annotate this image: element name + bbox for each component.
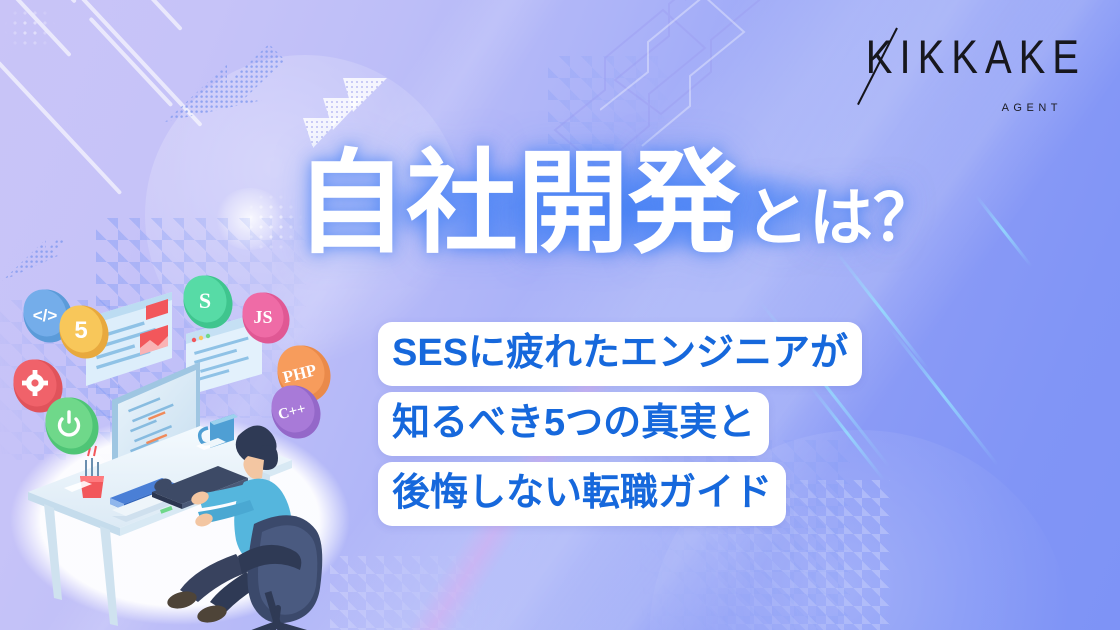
- halftone-block-g: [0, 8, 60, 48]
- headline-tail: とは？: [745, 186, 937, 260]
- promotional-banner: KIKKAKE AGENT 自社開発 とは？ SESに疲れたエンジニアが 知るべ…: [0, 0, 1120, 630]
- headline-main: 自社開発: [295, 148, 739, 260]
- developer-at-desk-icon: </> 5 S JS PHP: [0, 270, 360, 630]
- brand-logo-subtext: AGENT: [1002, 102, 1062, 114]
- subtitle-pill-3: 後悔しない転職ガイド: [378, 462, 786, 526]
- headline: 自社開発 とは？: [295, 148, 937, 260]
- svg-text:JS: JS: [253, 307, 272, 327]
- subtitle-pill-group: SESに疲れたエンジニアが 知るべき5つの真実と 後悔しない転職ガイド: [378, 322, 862, 526]
- svg-text:5: 5: [74, 317, 87, 344]
- dotted-arrow-icon: [165, 40, 290, 135]
- brand-logo[interactable]: KIKKAKE AGENT: [836, 34, 1086, 114]
- svg-text:S: S: [199, 288, 211, 313]
- developer-illustration: </> 5 S JS PHP: [0, 270, 360, 630]
- svg-text:</>: </>: [33, 306, 58, 325]
- subtitle-pill-2: 知るべき5つの真実と: [378, 392, 769, 456]
- subtitle-pill-1: SESに疲れたエンジニアが: [378, 322, 862, 386]
